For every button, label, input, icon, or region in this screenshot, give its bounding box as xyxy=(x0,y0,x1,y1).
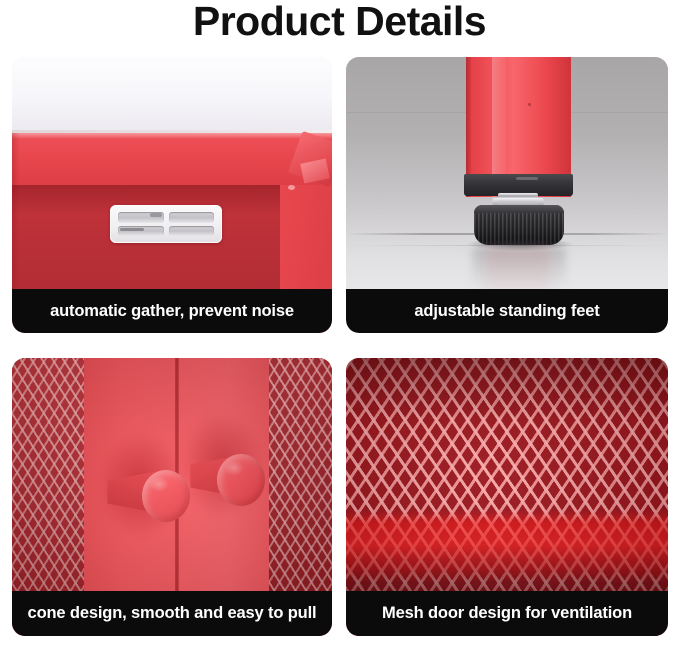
magnetic-catch-plate-icon xyxy=(110,205,222,243)
panel-caption: Mesh door design for ventilation xyxy=(346,591,668,636)
panel-caption: adjustable standing feet xyxy=(346,289,668,333)
catch-slot xyxy=(118,212,164,223)
panel-caption: cone design, smooth and easy to pull xyxy=(12,591,332,636)
product-feature-panel-adjustable-feet: adjustable standing feet xyxy=(346,57,668,333)
rail-highlight xyxy=(12,133,332,139)
foot-top-rim xyxy=(474,205,564,213)
catch-slot xyxy=(169,226,215,237)
leg-surface-speck xyxy=(528,103,531,106)
product-feature-panel-mesh-door: Mesh door design for ventilation xyxy=(346,358,668,636)
product-details-page: Product Details automatic gather, preven… xyxy=(0,0,679,648)
corner-specular-dot xyxy=(288,185,295,190)
product-feature-panel-magnetic-catch: automatic gather, prevent noise xyxy=(12,57,332,333)
product-feature-panel-cone-knobs: cone design, smooth and easy to pull xyxy=(12,358,332,636)
panel-caption: automatic gather, prevent noise xyxy=(12,289,332,333)
cabinet-white-top-surface xyxy=(12,57,332,132)
base-cap-highlight xyxy=(516,177,538,180)
cabinet-front-rail xyxy=(12,133,332,185)
catch-slot xyxy=(118,226,164,237)
catch-slot xyxy=(169,212,215,223)
page-title: Product Details xyxy=(0,0,679,44)
